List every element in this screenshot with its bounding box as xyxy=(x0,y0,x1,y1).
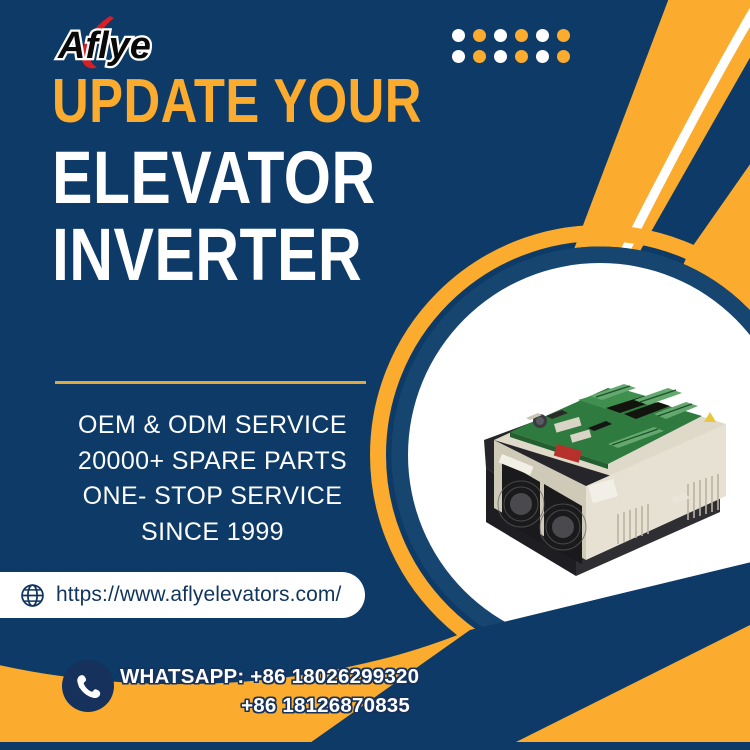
headline-line-3: INVERTER xyxy=(52,219,380,290)
phone-icon xyxy=(73,671,104,702)
feature-item: 20000+ SPARE PARTS xyxy=(40,444,385,480)
logo-wordmark: Aflye xyxy=(57,25,151,67)
website-url[interactable]: https://www.aflyelevators.com/ xyxy=(56,583,341,607)
feature-item: OEM & ODM SERVICE xyxy=(40,408,385,444)
headline-line-2: ELEVATOR xyxy=(52,142,380,213)
aflye-logo[interactable]: Aflye xyxy=(52,12,172,74)
headline-block: UPDATE YOUR ELEVATOR INVERTER xyxy=(52,72,452,290)
contact-block: WHATSAPP: +86 18026299320 +86 1812687083… xyxy=(120,662,410,720)
feature-item: ONE- STOP SERVICE xyxy=(40,479,385,515)
dot xyxy=(515,50,528,63)
dot xyxy=(536,29,549,42)
dot xyxy=(536,50,549,63)
promo-banner: Aflye UPDATE YOUR ELEVATOR INVERTER OEM … xyxy=(0,0,750,750)
dot xyxy=(515,29,528,42)
whatsapp-primary-number[interactable]: WHATSAPP: +86 18026299320 xyxy=(120,662,410,691)
dot xyxy=(473,50,486,63)
fan-hub xyxy=(510,493,532,515)
dot xyxy=(473,29,486,42)
headline-line-1: UPDATE YOUR xyxy=(52,72,380,132)
navy-base-strip xyxy=(0,742,750,750)
gold-divider-rule xyxy=(55,381,366,384)
globe-icon xyxy=(20,583,45,608)
dot xyxy=(557,29,570,42)
dot xyxy=(557,50,570,63)
dot xyxy=(494,29,507,42)
phone-badge[interactable] xyxy=(62,660,114,712)
dot xyxy=(452,29,465,42)
dot-grid-decor xyxy=(452,29,578,71)
website-pill[interactable]: https://www.aflyelevators.com/ xyxy=(0,572,365,618)
dot xyxy=(452,50,465,63)
feature-item: SINCE 1999 xyxy=(40,515,385,551)
product-image xyxy=(458,336,748,596)
fan-hub xyxy=(552,516,574,538)
warning-triangle xyxy=(704,412,716,422)
dot xyxy=(494,50,507,63)
whatsapp-secondary-number[interactable]: +86 18126870835 xyxy=(120,691,410,720)
feature-list: OEM & ODM SERVICE 20000+ SPARE PARTS ONE… xyxy=(40,408,385,550)
